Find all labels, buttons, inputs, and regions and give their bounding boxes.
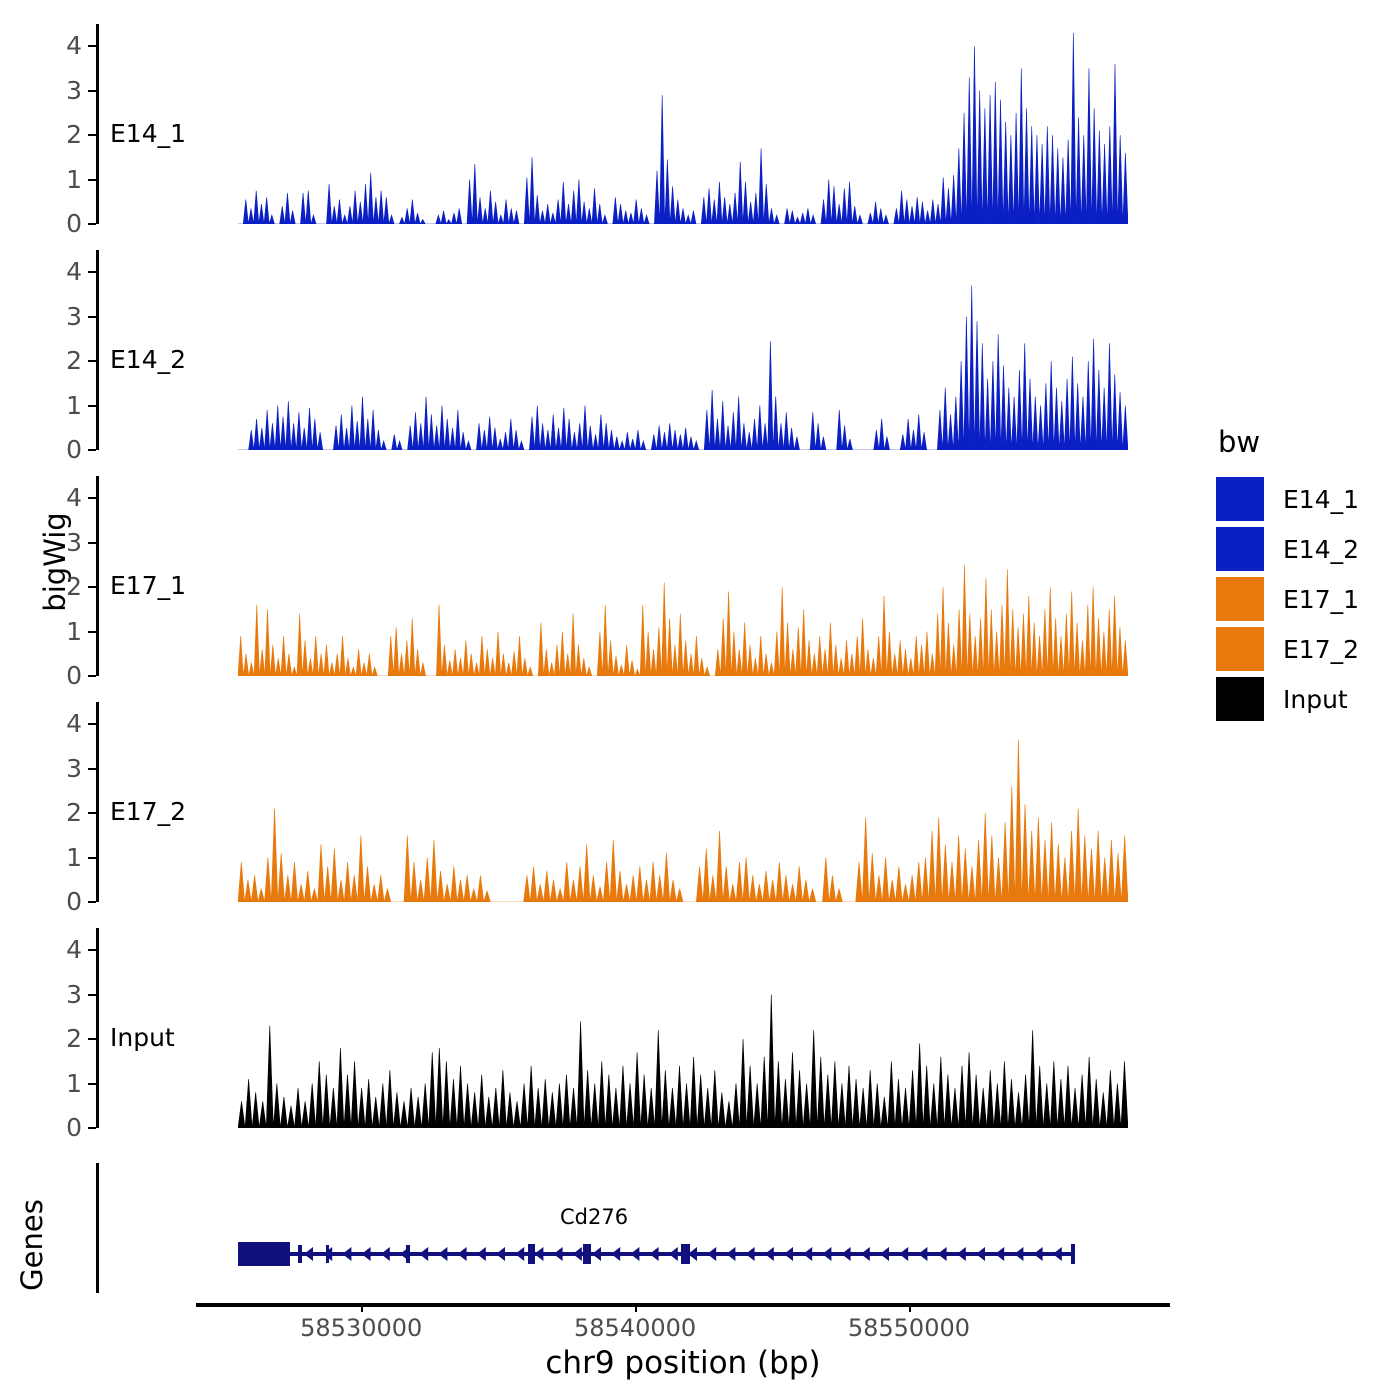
legend-label: E17_2 [1283, 635, 1359, 664]
x-axis-title: chr9 position (bp) [196, 1345, 1170, 1381]
y-tick [88, 812, 96, 814]
y-tick [88, 1127, 96, 1129]
y-tick-label: 1 [48, 393, 82, 418]
y-tick-label: 1 [48, 1071, 82, 1096]
y-axis-line [96, 702, 99, 902]
y-tick-label: 1 [48, 619, 82, 644]
track-panel-e17_2: 01234E17_2 [0, 702, 1180, 902]
legend-swatch-e17_2 [1216, 627, 1264, 671]
y-tick [88, 994, 96, 996]
track-label-e14_2: E14_2 [110, 345, 186, 374]
signal-area-e14_2[interactable] [238, 250, 1128, 450]
y-tick [88, 497, 96, 499]
y-tick-label: 3 [48, 78, 82, 103]
legend-item-e14_1[interactable]: E14_1 [1216, 475, 1359, 523]
track-panel-e14_2: 01234E14_2 [0, 250, 1180, 450]
y-tick-label: 0 [48, 1115, 82, 1140]
y-tick-label: 2 [48, 122, 82, 147]
genes-panel: Cd276 [0, 1163, 1180, 1293]
y-tick-label: 0 [48, 889, 82, 914]
y-tick [88, 542, 96, 544]
genes-axis-line [96, 1163, 99, 1293]
y-tick [88, 631, 96, 633]
y-tick [88, 45, 96, 47]
x-axis-line [196, 1303, 1170, 1307]
legend-label: E14_2 [1283, 535, 1359, 564]
legend-title: bw [1218, 425, 1359, 459]
gene-model-svg[interactable] [238, 1237, 1128, 1271]
track-label-e17_1: E17_1 [110, 571, 186, 600]
y-tick [88, 223, 96, 225]
legend-label: E17_1 [1283, 585, 1359, 614]
y-tick [88, 134, 96, 136]
track-label-input: Input [110, 1023, 175, 1052]
y-tick [88, 271, 96, 273]
y-tick-label: 0 [48, 211, 82, 236]
legend-swatch-e17_1 [1216, 577, 1264, 621]
x-tick [361, 1303, 363, 1312]
track-panel-input: 01234Input [0, 928, 1180, 1128]
signal-area-e17_2[interactable] [238, 702, 1128, 902]
y-tick-label: 3 [48, 304, 82, 329]
y-tick [88, 316, 96, 318]
legend: bw E14_1E14_2E17_1E17_2Input [1216, 425, 1359, 725]
signal-area-e14_1[interactable] [238, 24, 1128, 224]
x-tick-label: 58530000 [251, 1314, 471, 1342]
x-tick-label: 58540000 [525, 1314, 745, 1342]
legend-item-e14_2[interactable]: E14_2 [1216, 525, 1359, 573]
y-axis-line [96, 250, 99, 450]
y-tick-label: 4 [48, 937, 82, 962]
legend-item-e17_2[interactable]: E17_2 [1216, 625, 1359, 673]
y-axis-line [96, 24, 99, 224]
y-tick-label: 4 [48, 259, 82, 284]
legend-item-input[interactable]: Input [1216, 675, 1359, 723]
legend-swatch-e14_1 [1216, 477, 1264, 521]
y-tick [88, 901, 96, 903]
y-tick [88, 857, 96, 859]
legend-swatch-input [1216, 677, 1264, 721]
legend-item-e17_1[interactable]: E17_1 [1216, 575, 1359, 623]
y-tick-label: 3 [48, 756, 82, 781]
y-tick [88, 768, 96, 770]
track-label-e14_1: E14_1 [110, 119, 186, 148]
legend-label: Input [1283, 685, 1348, 714]
y-tick [88, 90, 96, 92]
y-tick-label: 2 [48, 800, 82, 825]
gene-model-area[interactable] [238, 1237, 1128, 1271]
legend-label: E14_1 [1283, 485, 1359, 514]
y-tick-label: 4 [48, 33, 82, 58]
track-label-e17_2: E17_2 [110, 797, 186, 826]
y-tick-label: 1 [48, 167, 82, 192]
y-tick-label: 3 [48, 982, 82, 1007]
y-tick-label: 2 [48, 574, 82, 599]
y-axis-line [96, 928, 99, 1128]
y-tick-label: 1 [48, 845, 82, 870]
y-tick-label: 3 [48, 530, 82, 555]
y-tick [88, 360, 96, 362]
signal-area-input[interactable] [238, 928, 1128, 1128]
y-tick [88, 586, 96, 588]
legend-swatch-e14_2 [1216, 527, 1264, 571]
y-axis-line [96, 476, 99, 676]
y-tick [88, 949, 96, 951]
track-panel-e14_1: 01234E14_1 [0, 24, 1180, 224]
y-tick [88, 723, 96, 725]
y-tick-label: 0 [48, 437, 82, 462]
legend-items: E14_1E14_2E17_1E17_2Input [1216, 475, 1359, 723]
y-tick [88, 1083, 96, 1085]
y-tick-label: 2 [48, 348, 82, 373]
y-tick [88, 405, 96, 407]
x-tick [909, 1303, 911, 1312]
y-tick [88, 1038, 96, 1040]
signal-area-e17_1[interactable] [238, 476, 1128, 676]
x-tick-label: 58550000 [799, 1314, 1019, 1342]
y-tick-label: 2 [48, 1026, 82, 1051]
track-panel-e17_1: 01234E17_1 [0, 476, 1180, 676]
gene-label: Cd276 [560, 1205, 628, 1229]
y-tick-label: 0 [48, 663, 82, 688]
x-tick [635, 1303, 637, 1312]
y-tick-label: 4 [48, 485, 82, 510]
y-tick [88, 179, 96, 181]
y-tick-label: 4 [48, 711, 82, 736]
y-tick [88, 675, 96, 677]
y-tick [88, 449, 96, 451]
